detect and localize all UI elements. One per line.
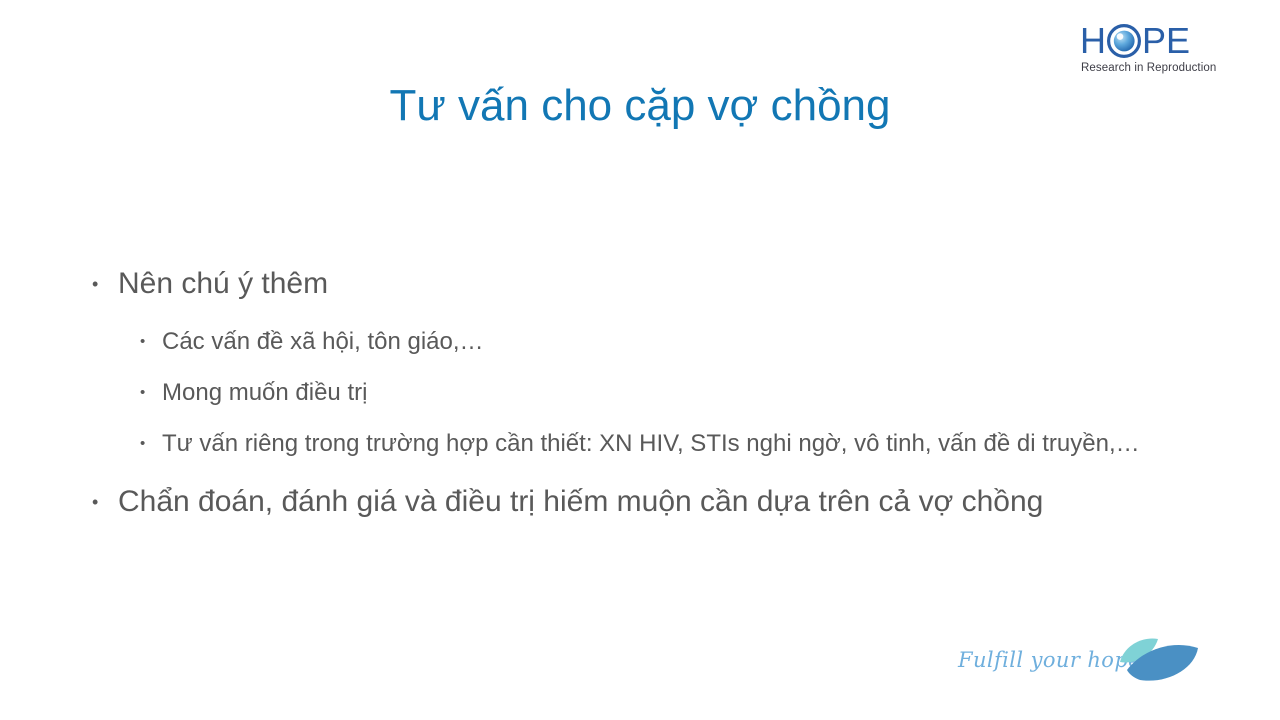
bullet-level2-item: • Các vấn đề xã hội, tôn giáo,… [140, 323, 1188, 361]
bullet-level1-item: • Chẩn đoán, đánh giá và điều trị hiếm m… [92, 480, 1188, 524]
slide-canvas: H P E Rese [0, 0, 1280, 720]
logo-letter-e: E [1166, 23, 1190, 59]
body-content: • Nên chú ý thêm • Các vấn đề xã hội, tô… [92, 262, 1188, 527]
logo-letter-p: P [1142, 23, 1166, 59]
bullet-text: Chẩn đoán, đánh giá và điều trị hiếm muộ… [118, 480, 1188, 524]
slide-title: Tư vấn cho cặp vợ chồng [64, 78, 1216, 134]
bullet-text: Mong muốn điều trị [162, 374, 1168, 412]
content-spacer [92, 309, 1188, 323]
bullet-level2-item: • Tư vấn riêng trong trường hợp cần thiế… [140, 425, 1188, 463]
bullet-marker-icon: • [92, 262, 118, 306]
bullet-marker-icon: • [140, 425, 162, 463]
logo-letter-h: H [1080, 23, 1106, 59]
hope-wordmark: H P E [1080, 22, 1190, 60]
bullet-text: Nên chú ý thêm [118, 262, 1188, 306]
bullet-text: Các vấn đề xã hội, tôn giáo,… [162, 323, 1168, 361]
bullet-marker-icon: • [92, 480, 118, 524]
hope-logo: H P E Rese [1080, 22, 1208, 84]
bullet-marker-icon: • [140, 374, 162, 412]
bullet-text: Tư vấn riêng trong trường hợp cần thiết:… [162, 425, 1168, 463]
bullet-level2-item: • Mong muốn điều trị [140, 374, 1188, 412]
bullet-level1-item: • Nên chú ý thêm [92, 262, 1188, 306]
eye-iris-icon [1107, 24, 1141, 58]
bullet-marker-icon: • [140, 323, 162, 361]
logo-tagline: Research in Reproduction [1081, 62, 1216, 74]
two-leaves-icon [1114, 632, 1210, 688]
